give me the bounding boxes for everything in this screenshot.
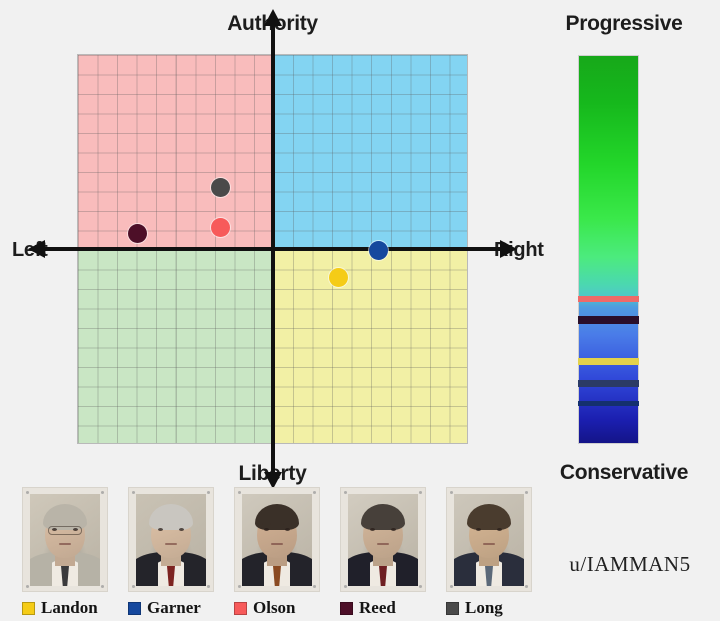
portrait-glasses	[48, 526, 82, 535]
portrait-corner-pin	[238, 491, 241, 494]
colorbar-label-progressive: Progressive	[528, 12, 720, 36]
portrait-corner-pin	[450, 585, 453, 588]
legend-item-reed[interactable]: Reed	[340, 598, 396, 618]
legend-label: Long	[465, 598, 503, 618]
data-point-landon[interactable]	[329, 268, 348, 287]
legend-item-long[interactable]: Long	[446, 598, 503, 618]
portrait-corner-pin	[344, 585, 347, 588]
portrait-mouth	[271, 543, 283, 545]
portrait-eyebrow-left	[368, 523, 377, 525]
legend-swatch-garner	[128, 602, 141, 615]
arrow-up-icon	[264, 9, 282, 26]
quadrant-authoritarian-right	[273, 55, 468, 249]
legend-item-garner[interactable]: Garner	[128, 598, 201, 618]
olson-stripe	[578, 296, 639, 302]
garner-stripe	[578, 401, 639, 406]
portrait-eye-left	[370, 528, 375, 531]
portrait-eye-right	[391, 528, 396, 531]
data-point-olson[interactable]	[211, 218, 230, 237]
legend-item-landon[interactable]: Landon	[22, 598, 98, 618]
arrow-left-icon	[28, 240, 45, 258]
portrait-corner-pin	[207, 585, 210, 588]
portrait-mouth	[165, 543, 177, 545]
quadrant-authoritarian-left	[78, 55, 273, 249]
portrait-corner-pin	[132, 491, 135, 494]
data-point-reed[interactable]	[128, 224, 147, 243]
portrait-corner-pin	[525, 585, 528, 588]
portrait-mouth	[59, 543, 71, 545]
portrait-eye-left	[264, 528, 269, 531]
portrait-eyebrow-right	[495, 523, 504, 525]
portrait-corner-pin	[101, 585, 104, 588]
portrait-corner-pin	[101, 491, 104, 494]
portrait-reed	[340, 487, 426, 592]
portrait-corner-pin	[419, 585, 422, 588]
portrait-landon	[22, 487, 108, 592]
portrait-eyebrow-right	[71, 523, 80, 525]
portrait-long	[446, 487, 532, 592]
portrait-corner-pin	[207, 491, 210, 494]
portrait-mouth	[377, 543, 389, 545]
colorbar-label-conservative: Conservative	[528, 461, 720, 485]
portrait-corner-pin	[313, 491, 316, 494]
portrait-corner-pin	[26, 491, 29, 494]
legend-label: Olson	[253, 598, 296, 618]
legend-item-olson[interactable]: Olson	[234, 598, 296, 618]
portrait-mouth	[483, 543, 495, 545]
horizontal-axis-line	[43, 247, 502, 251]
portrait-eye-right	[285, 528, 290, 531]
portrait-corner-pin	[450, 491, 453, 494]
portrait-eye-left	[476, 528, 481, 531]
portrait-garner	[128, 487, 214, 592]
watermark-credit: u/IAMMAN5	[548, 552, 712, 577]
portrait-corner-pin	[525, 491, 528, 494]
long-stripe	[578, 380, 639, 387]
progressive-conservative-colorbar	[578, 55, 639, 444]
portrait-corner-pin	[26, 585, 29, 588]
portrait-corner-pin	[238, 585, 241, 588]
legend-swatch-reed	[340, 602, 353, 615]
legend-swatch-long	[446, 602, 459, 615]
portrait-eyebrow-left	[262, 523, 271, 525]
arrow-right-icon	[500, 240, 517, 258]
portrait-eyebrow-left	[50, 523, 59, 525]
legend-label: Landon	[41, 598, 98, 618]
portrait-eyebrow-left	[156, 523, 165, 525]
portrait-eyebrow-right	[389, 523, 398, 525]
quadrant-libertarian-right	[273, 249, 468, 443]
political-compass-plot	[77, 54, 468, 444]
portrait-eyebrow-right	[283, 523, 292, 525]
portrait-eye-left	[158, 528, 163, 531]
political-compass-infographic: Authority Liberty Left Right Progressive…	[0, 0, 720, 621]
legend-swatch-olson	[234, 602, 247, 615]
portrait-corner-pin	[344, 491, 347, 494]
legend-swatch-landon	[22, 602, 35, 615]
legend-label: Garner	[147, 598, 201, 618]
portrait-olson	[234, 487, 320, 592]
portrait-eyebrow-right	[177, 523, 186, 525]
landon-stripe	[578, 358, 639, 365]
portrait-corner-pin	[132, 585, 135, 588]
data-point-long[interactable]	[211, 178, 230, 197]
portrait-corner-pin	[313, 585, 316, 588]
reed-stripe	[578, 316, 639, 324]
data-point-garner[interactable]	[369, 241, 388, 260]
portrait-eyebrow-left	[474, 523, 483, 525]
portrait-corner-pin	[419, 491, 422, 494]
quadrant-libertarian-left	[78, 249, 273, 443]
legend-label: Reed	[359, 598, 396, 618]
portrait-eye-right	[179, 528, 184, 531]
portrait-eye-right	[497, 528, 502, 531]
